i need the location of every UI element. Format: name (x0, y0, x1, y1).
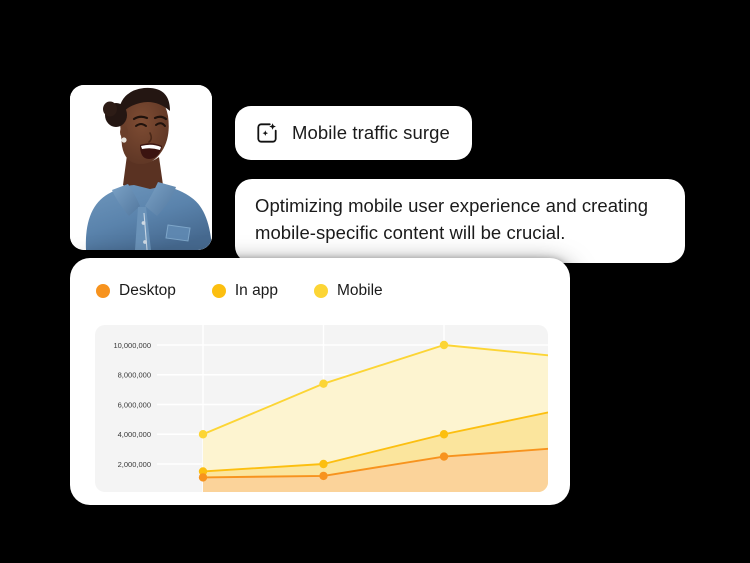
y-tick-label-0: 2,000,000 (118, 460, 151, 469)
portrait-illustration (70, 85, 212, 250)
legend-label-desktop: Desktop (119, 282, 176, 300)
insight-body-text: Optimizing mobile user experience and cr… (255, 193, 665, 247)
marker-mobile-0 (199, 430, 207, 438)
insight-title-bubble[interactable]: Mobile traffic surge (235, 106, 472, 160)
legend-dot-mobile (314, 284, 328, 298)
marker-desktop-2 (440, 452, 448, 460)
marker-in-app-2 (440, 430, 448, 438)
legend-item-mobile[interactable]: Mobile (314, 282, 383, 300)
user-photo (70, 85, 212, 250)
legend-dot-in-app (212, 284, 226, 298)
legend-dot-desktop (96, 284, 110, 298)
marker-desktop-0 (199, 473, 207, 481)
marker-mobile-2 (440, 341, 448, 349)
marker-in-app-1 (319, 460, 327, 468)
legend-item-in-app[interactable]: In app (212, 282, 278, 300)
y-tick-label-1: 4,000,000 (118, 430, 151, 439)
traffic-chart-card: Desktop In app Mobile 2,000,0004,000,000… (70, 258, 570, 505)
legend-label-in-app: In app (235, 282, 278, 300)
y-tick-label-3: 8,000,000 (118, 371, 151, 380)
chart-plot-area: 2,000,0004,000,0006,000,0008,000,00010,0… (95, 325, 548, 492)
promo-illustration: Mobile traffic surge Optimizing mobile u… (0, 0, 750, 563)
insight-body-bubble[interactable]: Optimizing mobile user experience and cr… (235, 179, 685, 263)
marker-mobile-1 (319, 379, 327, 387)
marker-desktop-1 (319, 472, 327, 480)
insight-title-text: Mobile traffic surge (292, 122, 450, 144)
y-tick-label-2: 6,000,000 (118, 400, 151, 409)
legend-item-desktop[interactable]: Desktop (96, 282, 176, 300)
y-axis-tick-labels: 2,000,0004,000,0006,000,0008,000,00010,0… (113, 341, 151, 469)
legend-label-mobile: Mobile (337, 282, 383, 300)
y-tick-label-4: 10,000,000 (113, 341, 151, 350)
chart-legend: Desktop In app Mobile (96, 282, 419, 300)
ai-sparkle-icon (255, 121, 279, 145)
area-chart-svg: 2,000,0004,000,0006,000,0008,000,00010,0… (95, 325, 548, 492)
